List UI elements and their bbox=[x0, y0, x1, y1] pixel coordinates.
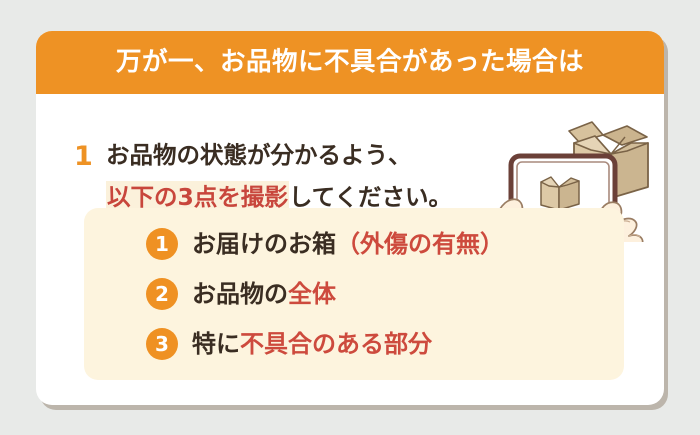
step-number: 1 bbox=[74, 143, 93, 170]
list-item: 3 特に不具合のある部分 bbox=[146, 324, 432, 364]
step-tail-text: してください。 bbox=[289, 183, 452, 211]
list-item-text-red: 全体 bbox=[288, 280, 336, 308]
list-item-text-dark: 特に bbox=[192, 330, 240, 358]
list-item: 2 お品物の全体 bbox=[146, 274, 336, 314]
card-header: 万が一、お品物に不具合があった場合は bbox=[36, 31, 664, 94]
list-number-badge: 2 bbox=[146, 278, 178, 310]
list-number-badge: 3 bbox=[146, 328, 178, 360]
list-item-text-red: 不具合のある部分 bbox=[240, 330, 432, 358]
info-card: 万が一、お品物に不具合があった場合は 1 お品物の状態が分かるよう、 以下の3点… bbox=[36, 31, 664, 405]
list-item-text: 特に不具合のある部分 bbox=[192, 332, 432, 356]
list-item-text-red: （外傷の有無） bbox=[336, 230, 504, 258]
list-number-badge: 1 bbox=[146, 228, 178, 260]
step-text-line-1: お品物の状態が分かるよう、 bbox=[106, 144, 412, 168]
header-title: 万が一、お品物に不具合があった場合は bbox=[116, 50, 584, 76]
list-item-text-dark: お品物の bbox=[192, 280, 288, 308]
list-item-text: お品物の全体 bbox=[192, 282, 336, 306]
step-text-line-2: 以下の3点を撮影してください。 bbox=[106, 186, 452, 210]
list-item: 1 お届けのお箱（外傷の有無） bbox=[146, 224, 504, 264]
list-item-text-dark: お届けのお箱 bbox=[192, 230, 336, 258]
box-on-screen-icon bbox=[541, 177, 579, 210]
list-item-text: お届けのお箱（外傷の有無） bbox=[192, 232, 504, 256]
photo-checklist-panel: 1 お届けのお箱（外傷の有無） 2 お品物の全体 3 特に不具合のある部分 bbox=[84, 208, 624, 380]
cardboard-box-icon bbox=[569, 122, 648, 198]
